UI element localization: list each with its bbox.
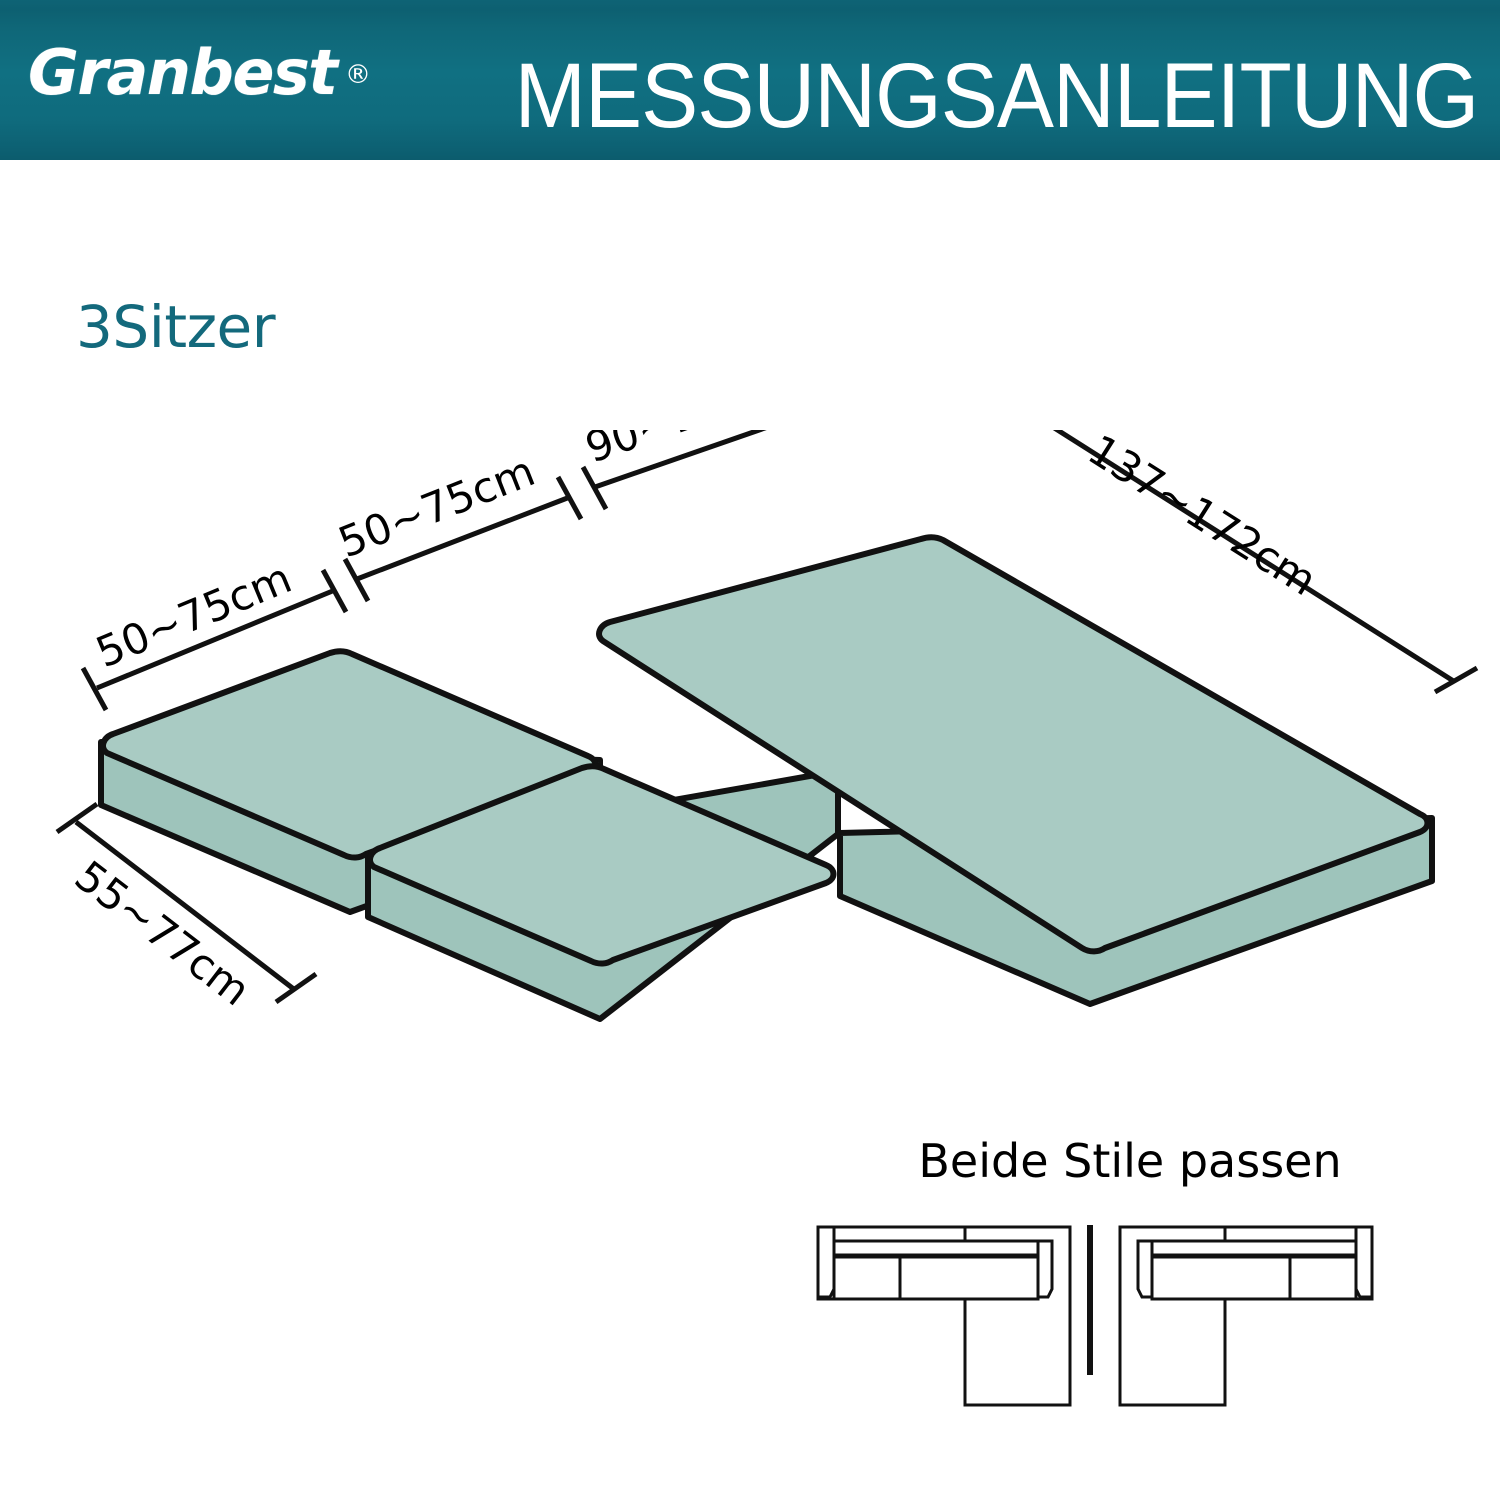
dimension-label-seat-1-width: 50~75cm: [89, 553, 298, 677]
sofa-dimension-illustration: .cush-top { fill:#a9cbc3; stroke:#111111…: [0, 430, 1500, 1110]
dimension-label-seat-depth: 55~77cm: [66, 851, 259, 1015]
both-styles-caption: Beide Stile passen: [840, 1138, 1420, 1184]
brand-logo: Granbest: [28, 42, 336, 104]
dimension-seat-2-width: 50~75cm: [332, 446, 581, 601]
page-title: MESSUNGSANLEITUNG: [515, 50, 1436, 142]
sofa-left-chaise-figure: [1120, 1227, 1372, 1405]
section-heading: 3Sitzer: [76, 298, 275, 356]
sofa-right-chaise-figure: [818, 1227, 1070, 1405]
header-banner: Granbest ® MESSUNGSANLEITUNG: [0, 0, 1500, 160]
registered-trademark-icon: ®: [345, 62, 371, 88]
chaise-cushion: [599, 537, 1432, 1004]
dimension-chaise-width: 90~100cm: [579, 430, 943, 509]
header-inner: Granbest ® MESSUNGSANLEITUNG: [0, 28, 1500, 132]
sofa-style-figures: .sofa-line { fill:#ffffff; stroke:#11111…: [790, 1225, 1440, 1425]
dimension-label-chaise-length: 137~172cm: [1080, 430, 1326, 605]
